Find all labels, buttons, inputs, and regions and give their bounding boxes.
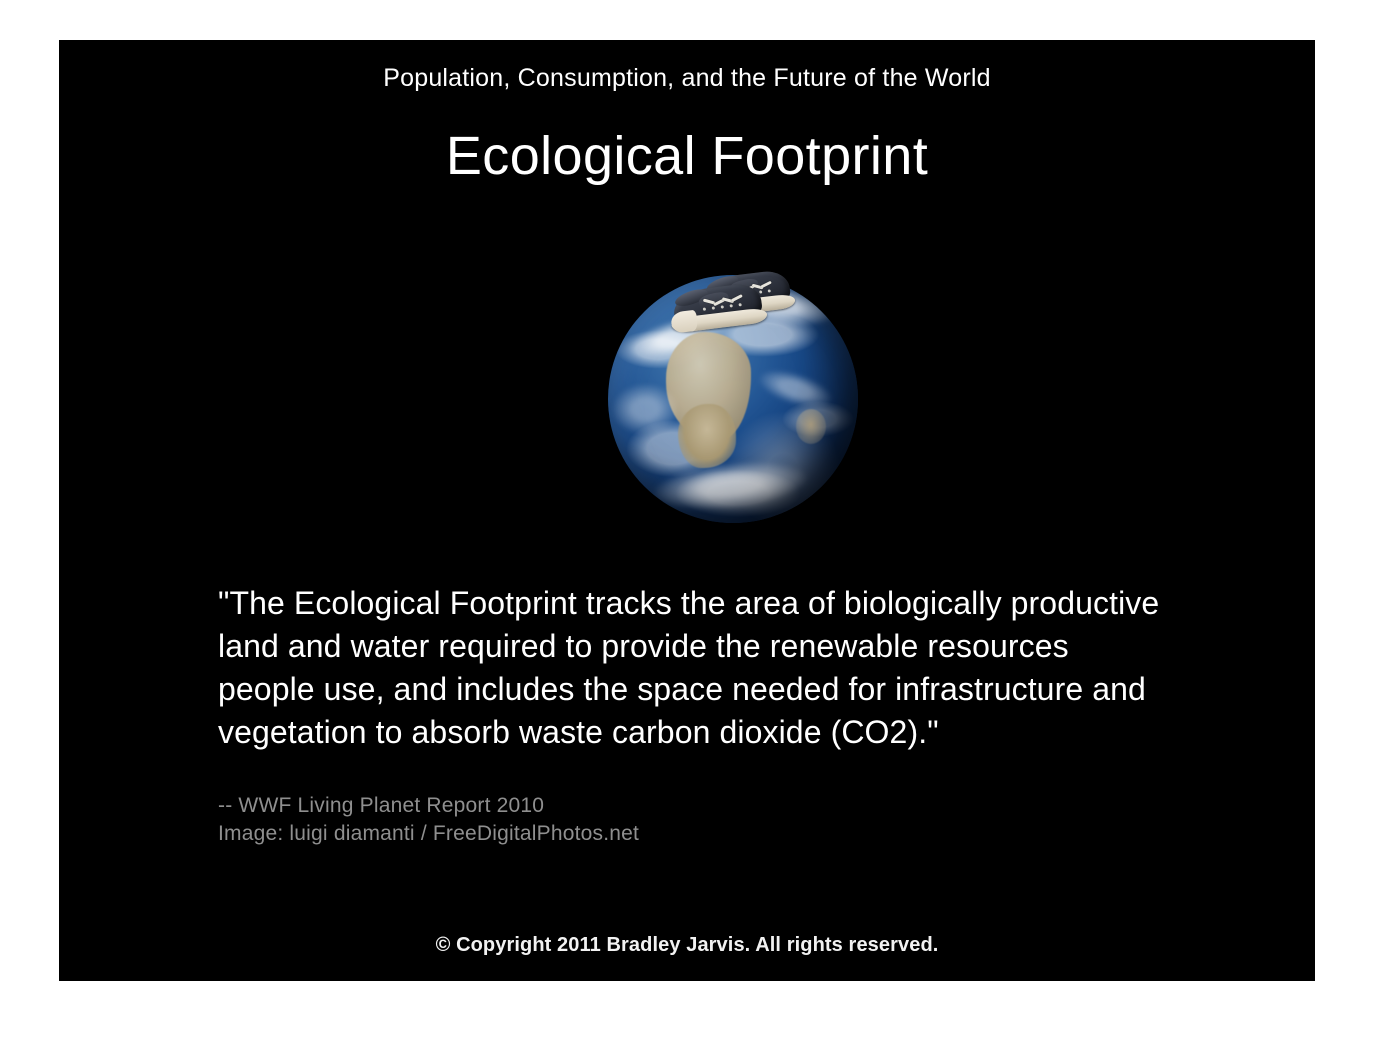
quote-block: "The Ecological Footprint tracks the are… (218, 582, 1218, 754)
quote-source-credit: -- WWF Living Planet Report 2010 (218, 792, 639, 820)
page-canvas: Population, Consumption, and the Future … (0, 0, 1375, 1063)
image-credit: Image: luigi diamanti / FreeDigitalPhoto… (218, 820, 639, 848)
earth-globe-with-sneakers-image (608, 235, 858, 515)
sneaker-icon (668, 281, 769, 336)
slide-subtitle: Population, Consumption, and the Future … (59, 63, 1315, 93)
sneakers-pair-icon (670, 273, 800, 335)
copyright-notice: © Copyright 2011 Bradley Jarvis. All rig… (59, 934, 1315, 957)
quote-line: "The Ecological Footprint tracks the are… (218, 582, 1218, 625)
credits-block: -- WWF Living Planet Report 2010 Image: … (218, 792, 639, 848)
quote-line: people use, and includes the space neede… (218, 668, 1218, 711)
presentation-slide: Population, Consumption, and the Future … (59, 40, 1315, 981)
quote-line: land and water required to provide the r… (218, 625, 1218, 668)
quote-line: vegetation to absorb waste carbon dioxid… (218, 711, 1218, 754)
slide-title: Ecological Footprint (59, 125, 1315, 187)
